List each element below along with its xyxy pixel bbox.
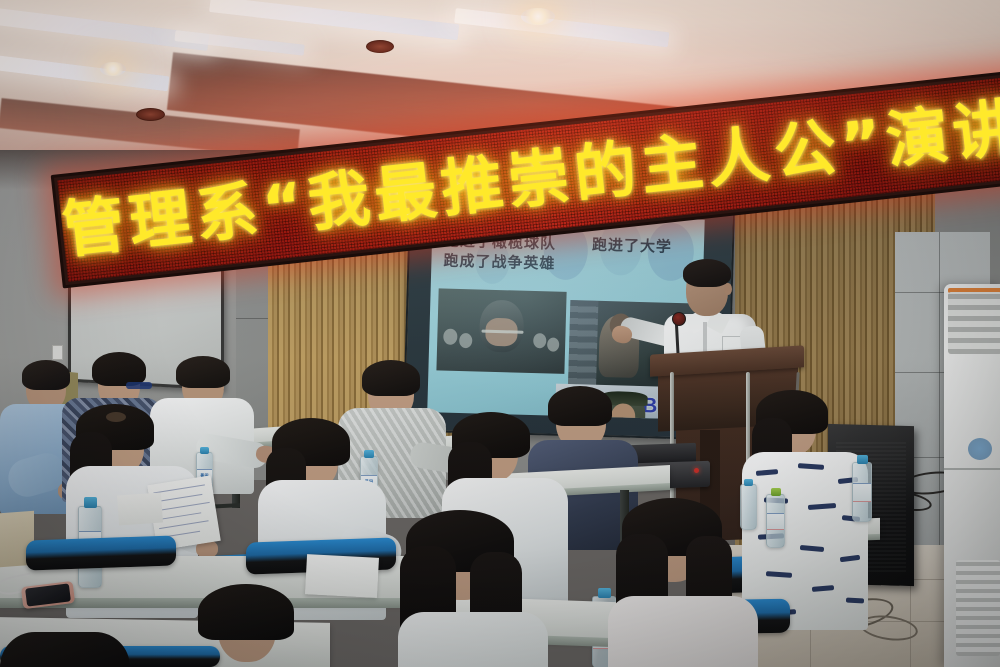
light-switch[interactable] [52, 345, 63, 360]
microphone-icon [672, 312, 686, 326]
power-led-icon [694, 468, 699, 473]
bottle-cap [84, 497, 97, 508]
audience-hair [176, 356, 230, 388]
air-conditioner-logo-icon [968, 438, 992, 460]
water-bottle[interactable] [852, 462, 872, 522]
bottle-label [853, 483, 871, 502]
paper-line [159, 520, 209, 529]
speaker-hair [683, 259, 731, 287]
bottle-cap [364, 450, 374, 458]
audience-hair [548, 386, 612, 426]
audience-hair [198, 584, 294, 640]
audience-head-foreground [0, 632, 130, 667]
bottle-cap [744, 479, 753, 486]
paper-line [158, 512, 202, 520]
bottle-cap [200, 447, 209, 454]
audience-body [608, 596, 758, 667]
audience-body [398, 612, 548, 667]
bottle-cap [857, 455, 868, 464]
bottle-cap [598, 588, 611, 598]
hair-tie-icon [106, 412, 126, 422]
audience-hair [22, 360, 70, 390]
audience-hair [92, 352, 146, 386]
water-bottle[interactable] [740, 484, 757, 530]
bottle-label [767, 513, 784, 530]
eyeglasses-icon [126, 382, 152, 389]
phone-screen [25, 583, 71, 606]
air-conditioner-seam [944, 468, 1000, 470]
chair-back[interactable] [26, 535, 176, 570]
audience-hair [362, 360, 420, 396]
paper-sheet[interactable] [117, 493, 163, 526]
lecture-room-photo: 跑进了橄榄球队 跑成了战争英雄 跑进了大学 Congratulations [0, 0, 1000, 667]
air-conditioner-top-vent [948, 292, 1000, 354]
paper-line [156, 502, 209, 511]
water-bottle[interactable] [766, 494, 785, 548]
paper-line [153, 484, 205, 493]
air-conditioner-bottom-vent [956, 560, 1000, 656]
paper-sheet[interactable] [305, 554, 379, 598]
paper-line [155, 494, 203, 502]
speaker-ear [724, 283, 732, 295]
bottle-cap [771, 488, 781, 496]
ceiling-downlight [100, 62, 126, 76]
